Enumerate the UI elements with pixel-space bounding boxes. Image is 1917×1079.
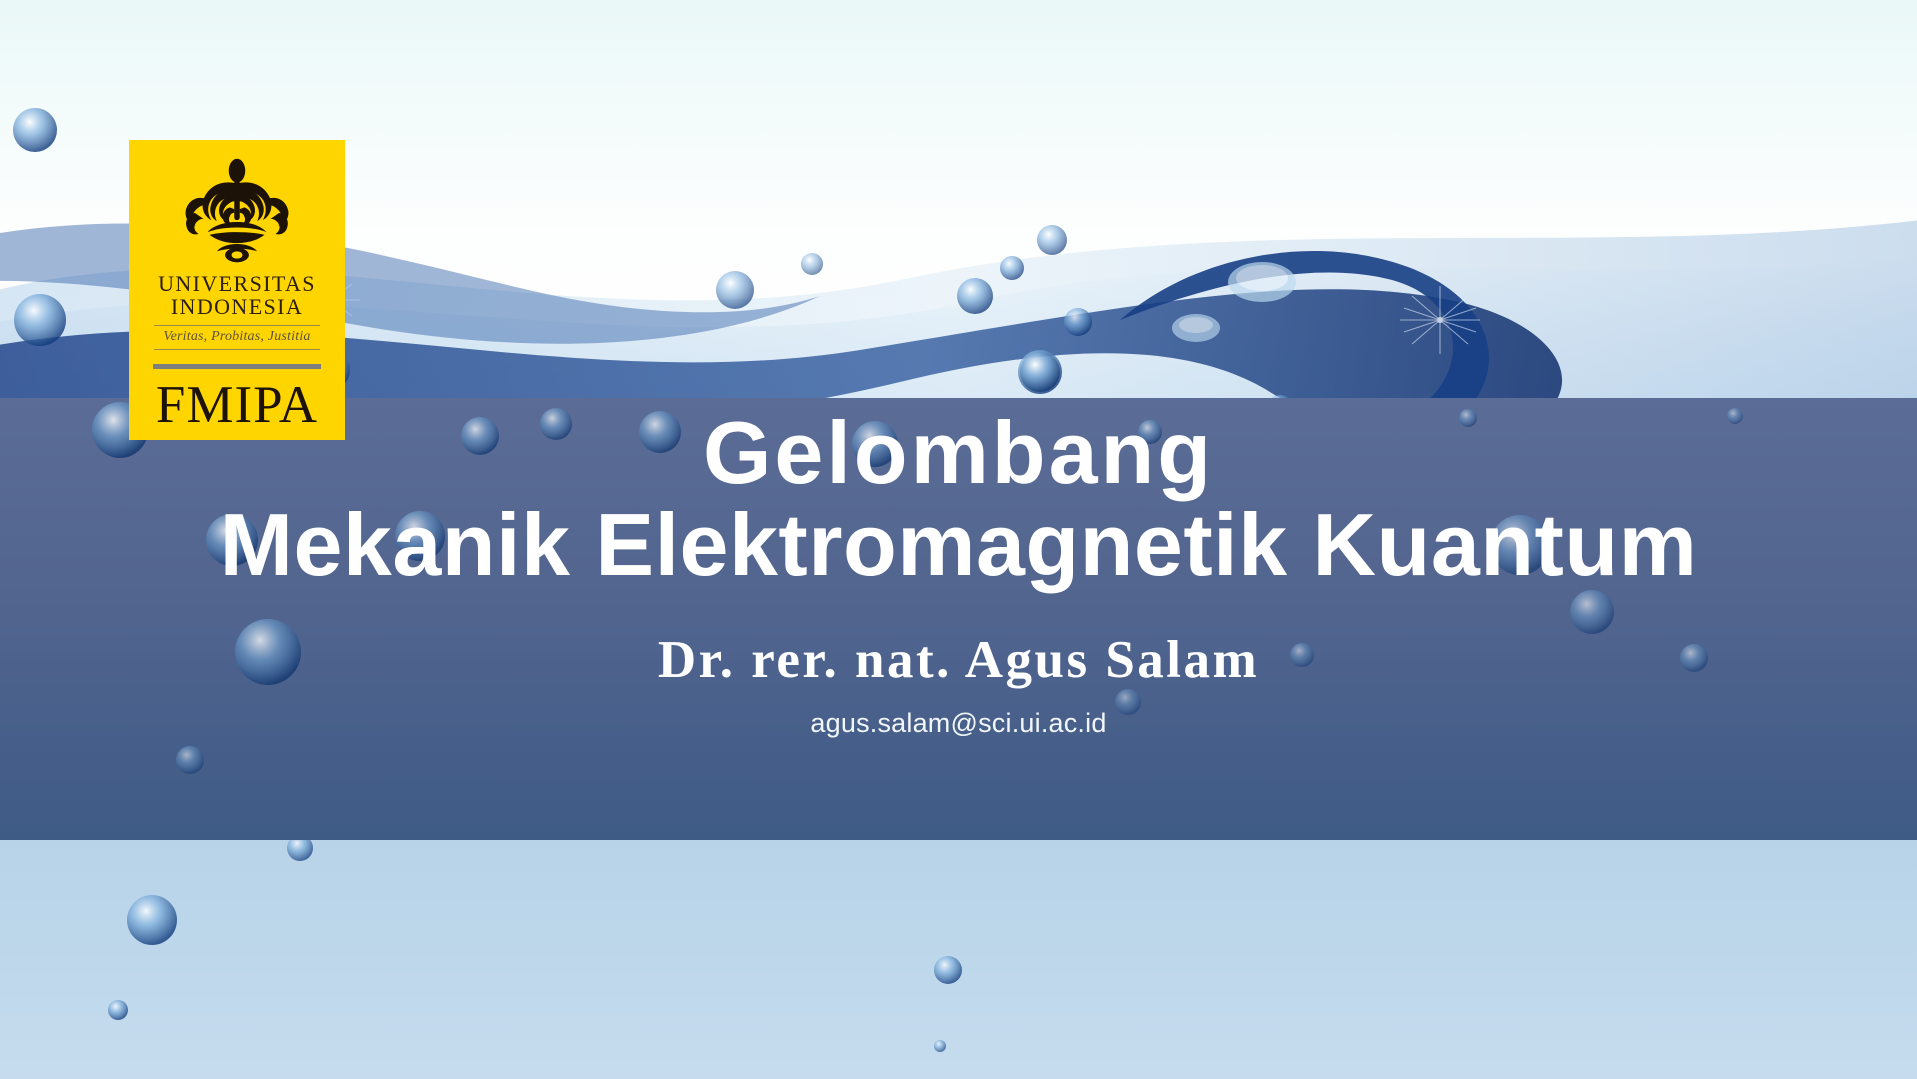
university-name-line1: UNIVERSITAS xyxy=(158,272,316,295)
presenter-email: agus.salam@sci.ui.ac.id xyxy=(0,707,1917,739)
university-name-line2: INDONESIA xyxy=(158,295,316,318)
university-logo-box: UNIVERSITAS INDONESIA Veritas, Probitas,… xyxy=(129,140,345,440)
title-block: Gelombang Mekanik Elektromagnetik Kuantu… xyxy=(0,405,1917,739)
university-name: UNIVERSITAS INDONESIA xyxy=(158,272,316,318)
slide-title-line2: Mekanik Elektromagnetik Kuantum xyxy=(0,497,1917,593)
title-slide: UNIVERSITAS INDONESIA Veritas, Probitas,… xyxy=(0,0,1917,1079)
logo-divider xyxy=(153,364,321,369)
presenter-name: Dr. rer. nat. Agus Salam xyxy=(0,631,1917,689)
motto-container: Veritas, Probitas, Justitia xyxy=(154,325,320,350)
slide-title-line1: Gelombang xyxy=(0,405,1917,501)
makara-emblem-icon xyxy=(182,156,292,266)
university-motto: Veritas, Probitas, Justitia xyxy=(154,329,320,345)
